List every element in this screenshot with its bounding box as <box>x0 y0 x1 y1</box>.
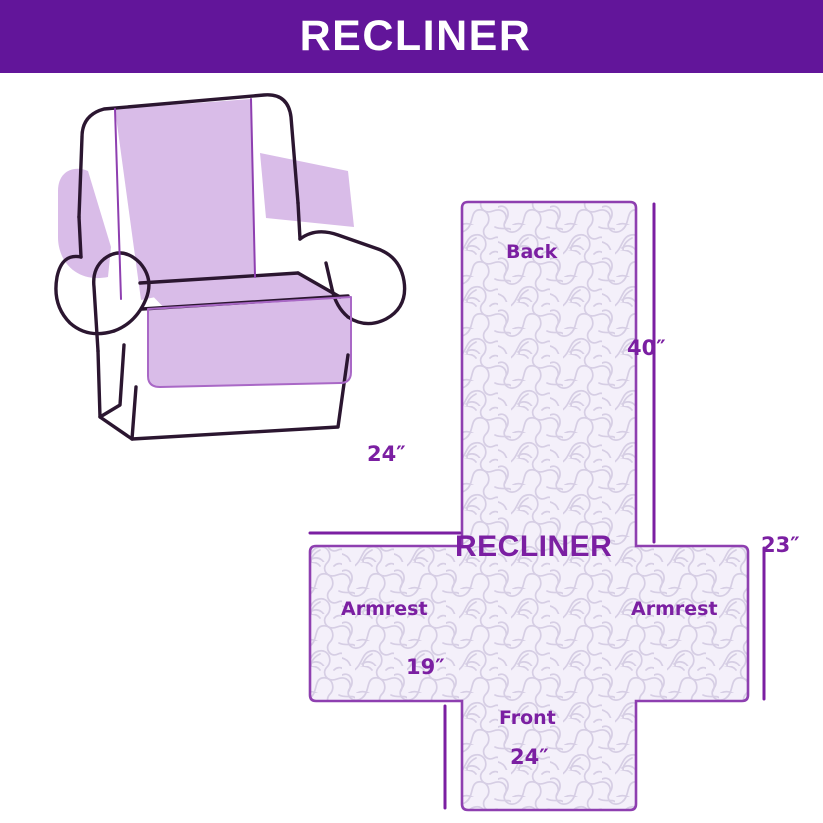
chair-left-leg-edge <box>100 345 124 417</box>
header-banner: RECLINER <box>0 0 823 73</box>
dimension-label-center-height: 23″ <box>761 535 800 556</box>
panel-label-front: Front <box>499 709 556 728</box>
dimension-label-back-height: 40″ <box>627 338 666 359</box>
dimension-label-front-height: 19″ <box>406 657 445 678</box>
dimension-label-front-width: 24″ <box>510 747 549 768</box>
panel-label-armrest-left: Armrest <box>341 600 428 619</box>
chair-front-left-corner <box>132 387 136 439</box>
recliner-size-diagram-page: RECLINER <box>0 0 823 823</box>
panel-label-armrest-right: Armrest <box>631 600 718 619</box>
dimension-label-armrest-width: 24″ <box>367 444 406 465</box>
chair-back-left-edge <box>79 217 81 257</box>
cover-backrest-fill <box>115 99 255 300</box>
page-title: RECLINER <box>300 15 532 58</box>
diagram-body <box>0 73 823 823</box>
center-label-recliner: RECLINER <box>455 532 612 562</box>
panel-label-back: Back <box>506 243 557 262</box>
